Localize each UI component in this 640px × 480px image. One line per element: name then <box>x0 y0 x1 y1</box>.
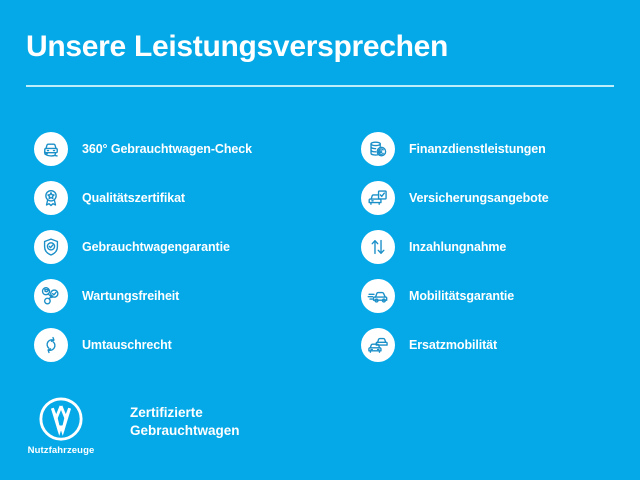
benefit-label: Finanzdienstleistungen <box>409 142 546 156</box>
benefits-column-right: Finanzdienstleistungen Versicherungsange… <box>361 124 549 369</box>
benefit-item-trade-in[interactable]: Inzahlungnahme <box>361 222 549 271</box>
car-speed-check-icon <box>361 279 395 313</box>
benefit-label: Umtauschrecht <box>82 338 172 352</box>
benefit-label: Mobilitätsgarantie <box>409 289 514 303</box>
benefit-item-360-check[interactable]: 360° Gebrauchtwagen-Check <box>34 124 252 173</box>
shield-check-icon <box>34 230 68 264</box>
benefits-column-left: 360° Gebrauchtwagen-Check Qualitätszerti… <box>34 124 252 369</box>
benefit-label: Qualitätszertifikat <box>82 191 185 205</box>
quality-rosette-icon <box>34 181 68 215</box>
benefit-item-quality-certificate[interactable]: Qualitätszertifikat <box>34 173 252 222</box>
benefit-item-financial-services[interactable]: Finanzdienstleistungen <box>361 124 549 173</box>
title-divider <box>26 85 614 87</box>
benefit-item-maintenance-free[interactable]: Wartungsfreiheit <box>34 271 252 320</box>
page-title: Unsere Leistungsversprechen <box>26 30 448 64</box>
benefit-label: Ersatzmobilität <box>409 338 497 352</box>
footer-brand-block: Nutzfahrzeuge Zertifizierte Gebrauchtwag… <box>30 396 240 456</box>
benefit-item-warranty[interactable]: Gebrauchtwagengarantie <box>34 222 252 271</box>
up-down-arrows-icon <box>361 230 395 264</box>
exchange-arrows-icon <box>34 328 68 362</box>
benefit-item-mobility-guarantee[interactable]: Mobilitätsgarantie <box>361 271 549 320</box>
coins-euro-icon <box>361 132 395 166</box>
benefit-label: Gebrauchtwagengarantie <box>82 240 230 254</box>
wrench-check-icon <box>34 279 68 313</box>
benefit-item-return-right[interactable]: Umtauschrecht <box>34 320 252 369</box>
vw-roundel-icon <box>38 396 84 442</box>
benefit-item-replacement-mobility[interactable]: Ersatzmobilität <box>361 320 549 369</box>
promo-banner: Unsere Leistungsversprechen 360° Gebrauc… <box>0 0 640 480</box>
car-360-check-icon <box>34 132 68 166</box>
footer-claim: Zertifizierte Gebrauchtwagen <box>130 404 240 440</box>
benefit-label: 360° Gebrauchtwagen-Check <box>82 142 252 156</box>
footer-claim-line1: Zertifizierte <box>130 404 240 422</box>
benefit-label: Inzahlungnahme <box>409 240 506 254</box>
benefit-item-insurance[interactable]: Versicherungsangebote <box>361 173 549 222</box>
benefit-label: Wartungsfreiheit <box>82 289 179 303</box>
brand-logo: Nutzfahrzeuge <box>30 396 92 456</box>
footer-claim-line2: Gebrauchtwagen <box>130 422 240 440</box>
benefit-label: Versicherungsangebote <box>409 191 549 205</box>
two-cars-icon <box>361 328 395 362</box>
car-document-check-icon <box>361 181 395 215</box>
brand-subtitle: Nutzfahrzeuge <box>28 445 95 456</box>
